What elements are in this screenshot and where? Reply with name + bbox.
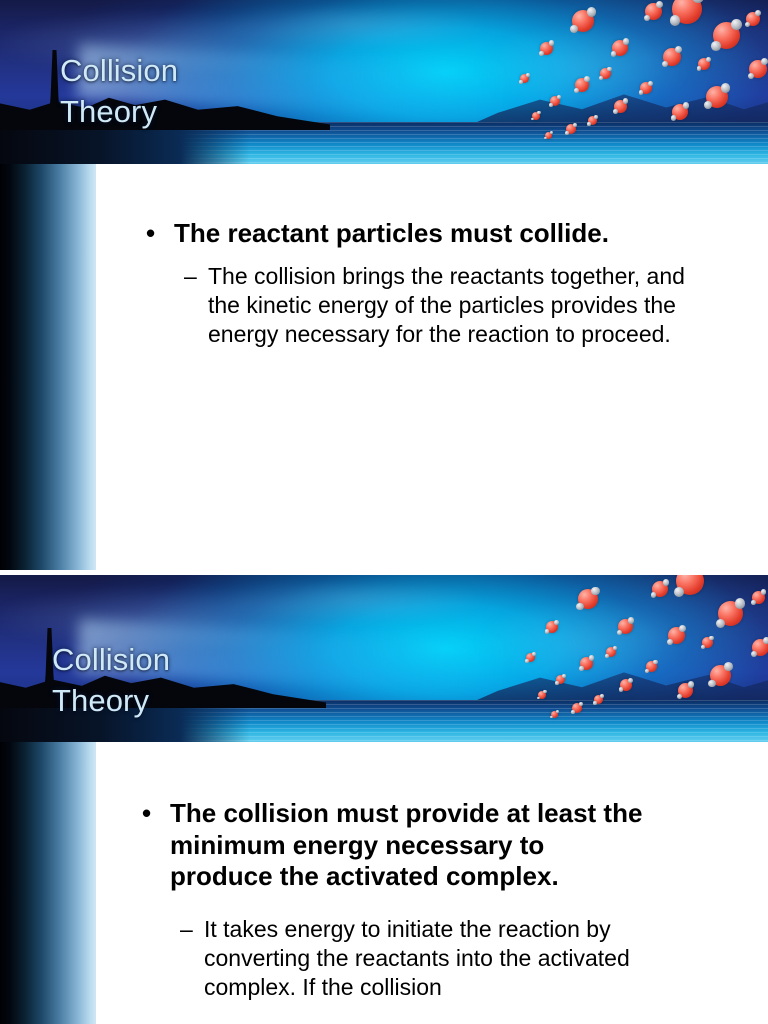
molecule-icon xyxy=(702,637,713,648)
molecule-icon xyxy=(532,112,540,120)
bullet-text: It takes energy to initiate the reaction… xyxy=(204,915,714,1002)
handout-page: Collision Theory • The reactant particle… xyxy=(0,0,768,1024)
molecule-icon xyxy=(606,647,616,657)
molecule-icon xyxy=(752,639,768,656)
molecule-icon xyxy=(672,0,702,24)
molecule-icon xyxy=(668,627,685,644)
molecule-icon xyxy=(614,100,627,113)
slide-2-title: Collision Theory xyxy=(52,640,170,722)
molecule-icon xyxy=(556,675,565,684)
molecule-icon xyxy=(713,22,740,49)
molecule-icon xyxy=(594,695,603,704)
molecule-icon xyxy=(752,591,765,604)
molecule-icon xyxy=(612,40,628,56)
slide-2-bullet-2: – It takes energy to initiate the reacti… xyxy=(96,915,768,1002)
molecule-icon xyxy=(566,124,576,134)
molecule-icon xyxy=(572,10,594,32)
molecule-icon xyxy=(580,657,593,670)
molecule-icon xyxy=(746,12,760,26)
bullet-text: The collision brings the reactants toget… xyxy=(208,262,698,349)
molecule-icon xyxy=(572,703,582,713)
slide-2-bullet-1: • The collision must provide at least th… xyxy=(96,798,768,893)
molecule-icon xyxy=(672,104,688,120)
slide-1-title: Collision Theory xyxy=(60,51,178,133)
molecule-icon xyxy=(706,86,728,108)
slide-2: Collision Theory • The collision must pr… xyxy=(0,575,768,1024)
bullet-marker-dot: • xyxy=(146,218,174,250)
slide-2-banner: Collision Theory xyxy=(0,575,768,742)
slide-1-bullet-1: • The reactant particles must collide. xyxy=(96,218,768,250)
molecule-icon xyxy=(551,711,558,718)
molecule-icon xyxy=(578,589,598,609)
molecule-icon xyxy=(546,621,558,633)
molecule-icon xyxy=(749,60,767,78)
molecule-icon xyxy=(652,581,668,597)
molecule-icon xyxy=(588,116,597,125)
molecule-icon xyxy=(678,683,693,698)
bullet-marker-dash: – xyxy=(180,915,204,944)
molecule-icon xyxy=(710,665,731,686)
molecule-icon xyxy=(526,653,535,662)
molecule-icon xyxy=(640,82,652,94)
slide-2-left-rail xyxy=(0,742,96,1024)
slide-1-banner: Collision Theory xyxy=(0,0,768,164)
molecule-icon xyxy=(676,575,704,595)
slide-1-bullet-2: – The collision brings the reactants tog… xyxy=(96,262,768,349)
bullet-text: The collision must provide at least the … xyxy=(170,798,650,893)
slide-1-left-rail xyxy=(0,164,96,570)
molecule-icon xyxy=(600,68,611,79)
molecule-icon xyxy=(538,691,546,699)
molecule-icon xyxy=(620,679,632,691)
molecule-icon xyxy=(646,661,657,672)
bullet-text: The reactant particles must collide. xyxy=(174,218,609,250)
bullet-marker-dash: – xyxy=(184,262,208,291)
molecule-icon xyxy=(520,74,529,83)
molecule-icon xyxy=(618,619,633,634)
molecule-icon xyxy=(698,58,710,70)
molecule-icon xyxy=(575,78,589,92)
slide-2-body: • The collision must provide at least th… xyxy=(96,742,768,1002)
molecule-icon xyxy=(550,96,560,106)
molecule-icon xyxy=(663,48,681,66)
molecule-icon xyxy=(645,3,662,20)
bullet-marker-dot: • xyxy=(142,798,170,830)
molecule-icon xyxy=(718,601,743,626)
molecule-icon xyxy=(540,42,553,55)
slide-1: Collision Theory • The reactant particle… xyxy=(0,0,768,570)
molecule-icon xyxy=(545,132,552,139)
slide-1-body: • The reactant particles must collide. –… xyxy=(96,164,768,349)
